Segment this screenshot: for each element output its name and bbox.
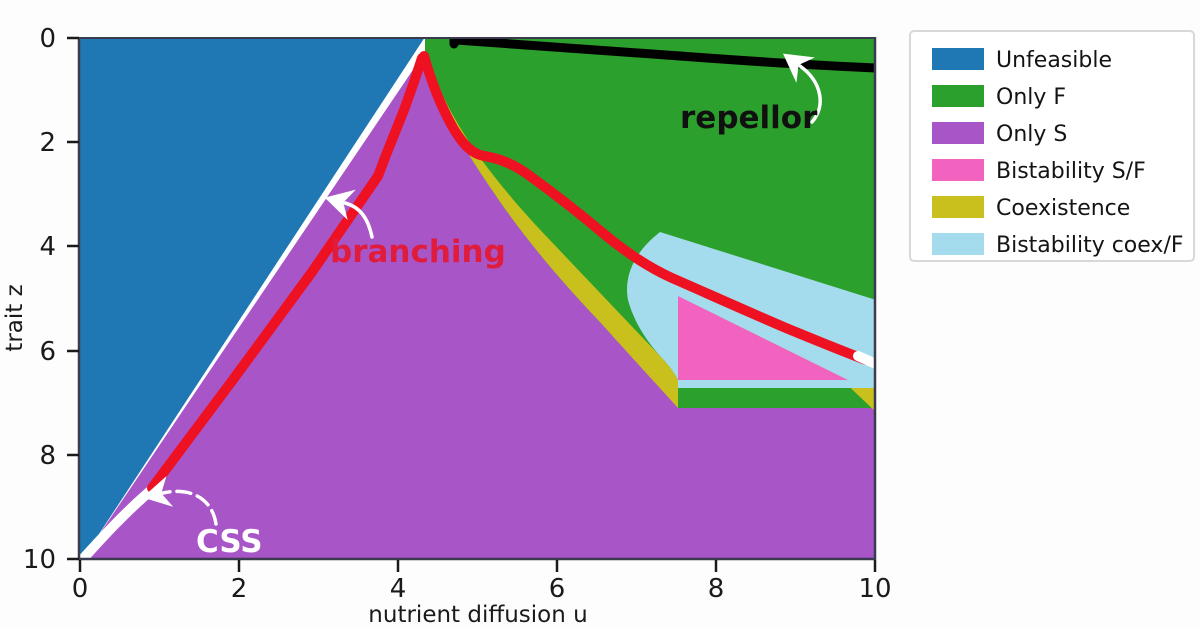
y-tick-label: 2 xyxy=(39,128,56,158)
x-axis-title: nutrient diffusion u xyxy=(368,602,587,628)
y-axis-ticks: 0 2 4 6 8 10 xyxy=(23,24,79,575)
legend-swatch-bistability-coex-f xyxy=(932,233,984,255)
legend-label: Bistability S/F xyxy=(996,159,1146,184)
legend-label: Only S xyxy=(996,122,1067,147)
region-only-s-right xyxy=(678,408,876,560)
phase-diagram-svg: branching repellor CSS 0 2 4 6 8 10 xyxy=(0,0,1200,629)
x-tick-label: 2 xyxy=(231,574,248,604)
legend-item-bistability-coex-f[interactable]: Bistability coex/F xyxy=(932,233,1184,258)
annotation-branching: branching xyxy=(330,234,506,270)
x-tick-label: 0 xyxy=(72,574,89,604)
y-tick-label: 6 xyxy=(39,337,56,367)
y-tick-label: 4 xyxy=(39,232,56,262)
legend-label: Unfeasible xyxy=(996,48,1112,73)
legend-swatch-unfeasible xyxy=(932,48,984,70)
legend-item-unfeasible[interactable]: Unfeasible xyxy=(932,48,1112,73)
x-tick-label: 8 xyxy=(708,574,725,604)
annotation-css: CSS xyxy=(196,524,263,560)
figure-root: branching repellor CSS 0 2 4 6 8 10 xyxy=(0,0,1200,629)
legend-swatch-bistability-sf xyxy=(932,159,984,181)
y-tick-label: 0 xyxy=(39,24,56,54)
legend-item-bistability-sf[interactable]: Bistability S/F xyxy=(932,159,1146,184)
legend-item-only-f[interactable]: Only F xyxy=(932,85,1066,110)
x-tick-label: 10 xyxy=(858,574,891,604)
x-tick-label: 6 xyxy=(549,574,566,604)
y-tick-label: 10 xyxy=(23,545,56,575)
legend-swatch-coexistence xyxy=(932,196,984,218)
y-axis-title: trait z xyxy=(2,284,28,351)
legend-item-coexistence[interactable]: Coexistence xyxy=(932,196,1130,221)
legend-label: Only F xyxy=(996,85,1066,110)
legend-label: Coexistence xyxy=(996,196,1130,221)
legend: Unfeasible Only F Only S Bistability S/F… xyxy=(910,31,1194,261)
x-axis-ticks: 0 2 4 6 8 10 xyxy=(72,560,892,604)
x-tick-label: 4 xyxy=(390,574,407,604)
legend-swatch-only-s xyxy=(932,122,984,144)
legend-swatch-only-f xyxy=(932,85,984,107)
y-tick-label: 8 xyxy=(39,441,56,471)
annotation-repellor: repellor xyxy=(680,100,818,136)
legend-item-only-s[interactable]: Only S xyxy=(932,122,1067,147)
legend-label: Bistability coex/F xyxy=(996,233,1184,258)
